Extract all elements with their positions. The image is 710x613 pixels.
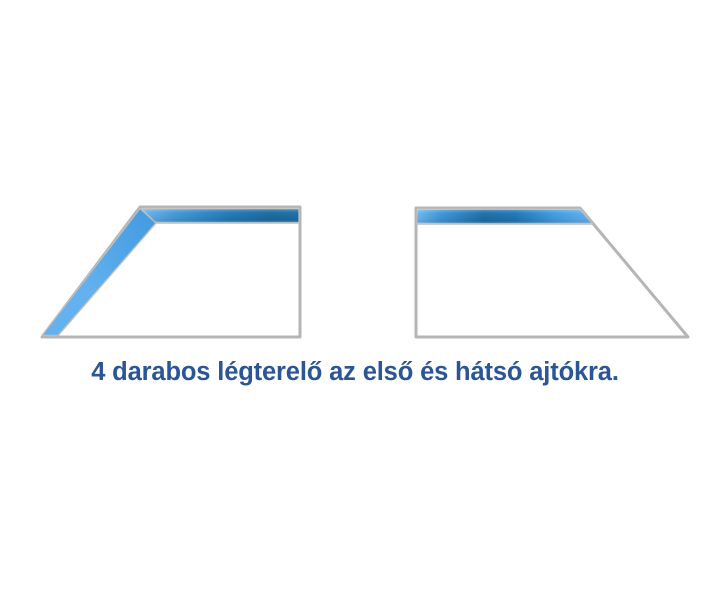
front-door-window-shape <box>42 207 300 337</box>
rear-door-window-shape <box>416 208 688 337</box>
rear-window-outline <box>416 208 688 337</box>
front-window-outline <box>42 207 300 337</box>
caption-row: 4 darabos légterelő az első és hátsó ajt… <box>0 350 710 396</box>
rear-deflector-sheen <box>417 209 593 224</box>
product-caption: 4 darabos légterelő az első és hátsó ajt… <box>91 360 619 386</box>
window-deflector-diagram <box>0 0 710 350</box>
diagram-svg <box>0 0 710 350</box>
product-figure: 4 darabos légterelő az első és hátsó ajt… <box>0 0 710 613</box>
front-deflector-sheen <box>141 209 299 224</box>
